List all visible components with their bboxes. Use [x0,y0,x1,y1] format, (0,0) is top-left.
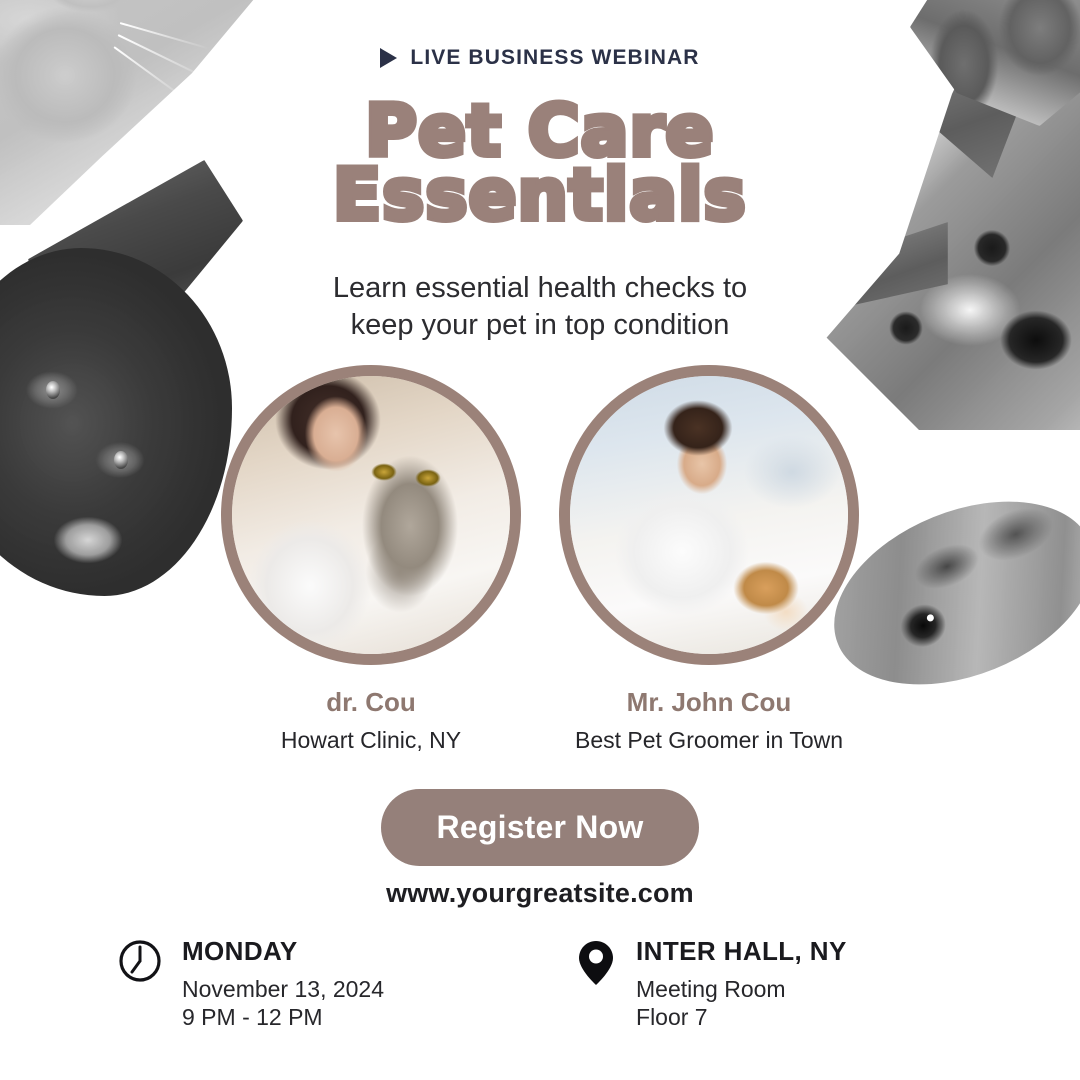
venue-room: Meeting Room [636,976,786,1002]
register-now-button[interactable]: Register Now [381,789,700,866]
cta-section: Register Now [0,789,1080,866]
speaker-card: Mr. John Cou Best Pet Groomer in Town [559,365,859,754]
speaker-photo-woman-with-cat [232,376,510,654]
event-details: MONDAY November 13, 2024 9 PM - 12 PM IN… [0,936,1080,1031]
event-day: MONDAY [182,936,384,967]
venue-name: INTER HALL, NY [636,936,847,967]
webinar-poster: LIVE BUSINESS WEBINAR Pet Care Essential… [0,0,1080,1080]
event-time-block: MONDAY November 13, 2024 9 PM - 12 PM [118,936,384,1031]
play-triangle-icon [380,48,397,68]
title-line-2: Essentials [0,163,1080,227]
speaker-role: Best Pet Groomer in Town [559,727,859,754]
page-title: Pet Care Essentials [0,99,1080,228]
venue-floor: Floor 7 [636,1004,708,1030]
event-location-text: INTER HALL, NY Meeting Room Floor 7 [636,936,847,1031]
speakers-section: dr. Cou Howart Clinic, NY Mr. John Cou B… [0,365,1080,754]
speaker-role: Howart Clinic, NY [221,727,521,754]
subtitle-line-2: keep your pet in top condition [351,309,730,341]
event-time-text: MONDAY November 13, 2024 9 PM - 12 PM [182,936,384,1031]
event-hours: 9 PM - 12 PM [182,1004,323,1030]
subtitle: Learn essential health checks to keep yo… [0,270,1080,344]
eyebrow-label: LIVE BUSINESS WEBINAR [410,46,699,70]
speaker-card: dr. Cou Howart Clinic, NY [221,365,521,754]
avatar [559,365,859,665]
eyebrow-banner: LIVE BUSINESS WEBINAR [0,46,1080,70]
speaker-photo-man-with-cat [570,376,848,654]
speaker-name: Mr. John Cou [559,687,859,718]
speaker-name: dr. Cou [221,687,521,718]
event-date: November 13, 2024 [182,976,384,1002]
avatar [221,365,521,665]
event-location-block: INTER HALL, NY Meeting Room Floor 7 [576,936,847,1031]
map-pin-icon [576,939,616,992]
subtitle-line-1: Learn essential health checks to [333,272,747,304]
clock-icon [118,939,162,988]
website-url[interactable]: www.yourgreatsite.com [0,878,1080,909]
